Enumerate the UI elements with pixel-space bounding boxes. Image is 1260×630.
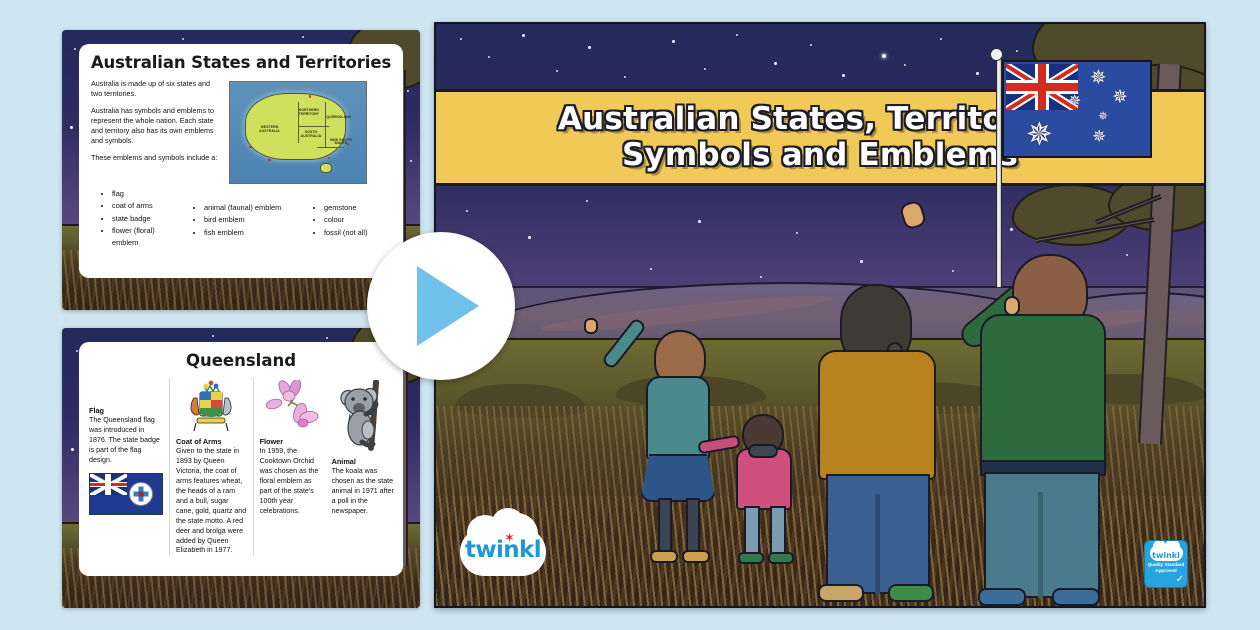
- badge-line-2: Approved: [1145, 568, 1187, 574]
- slide-1-title: Australian States and Territories: [79, 53, 403, 72]
- man-ear: [1004, 296, 1020, 316]
- slide-1-card: Australian States and Territories Austra…: [79, 44, 403, 278]
- union-jack-canton: [90, 474, 127, 495]
- girl-shoe: [682, 550, 710, 563]
- slide-1-body: Australia is made up of six states and t…: [79, 79, 403, 184]
- column-heading: Animal: [332, 457, 395, 467]
- maltese-cross-icon: [134, 486, 149, 501]
- coat-of-arms-icon: [182, 380, 240, 434]
- slide-1-paragraph-2: Australia has symbols and emblems to rep…: [91, 106, 221, 146]
- map-label-qld: QUEENSLAND: [324, 116, 354, 120]
- slide-1-bullets-col-1: flag coat of arms state badge flower (fl…: [101, 188, 177, 249]
- slide-2-title: Queensland: [79, 351, 403, 370]
- map-label-nsw: NEW SOUTH WALES: [328, 139, 354, 147]
- toddler-collar: [748, 444, 778, 458]
- slide-2-column-flower: Flower In 1959, the Cooktown Orchid was …: [253, 378, 322, 556]
- column-text: Given to the state in 1893 by Queen Vict…: [176, 447, 247, 556]
- star-icon: ✶: [504, 531, 515, 544]
- list-item: fossil (not all): [324, 227, 393, 238]
- adult-woman-figure: [804, 284, 954, 608]
- column-heading: Flag: [89, 406, 163, 416]
- map-tasmania: [320, 163, 332, 173]
- powerpoint-preview[interactable]: ✵ ✵ ✵ ✵ ✵ ✵: [434, 22, 1206, 608]
- queensland-flag-icon: [89, 473, 163, 515]
- slide-2-column-animal: Animal The koala was chosen as the state…: [328, 378, 395, 556]
- koala-icon: [332, 380, 394, 456]
- slide-2-column-coat-of-arms: Coat of Arms Given to the state in 1893 …: [169, 378, 247, 556]
- toddler-leg: [744, 506, 760, 558]
- man-shoe: [1052, 588, 1100, 606]
- girl-leg: [658, 498, 672, 554]
- slide-1-text-block: Australia is made up of six states and t…: [91, 79, 221, 184]
- adult-man-figure: [956, 254, 1126, 608]
- southern-cross-star: ✵: [1092, 128, 1106, 145]
- southern-cross-star: ✵: [1068, 94, 1081, 110]
- title-line-2: Symbols and Emblems: [622, 137, 1018, 173]
- column-heading: Flower: [260, 437, 322, 447]
- list-item: flower (floral) emblem: [112, 225, 177, 248]
- slide-1-bullets-col-3: gemstone colour fossil (not all): [313, 188, 393, 249]
- page-root: Australian States and Territories Austra…: [0, 0, 1260, 630]
- slide-2-column-flag: Flag The Queensland flag was introduced …: [89, 378, 163, 556]
- map-city-dot: [328, 157, 331, 160]
- twinkl-logo: ✶ twinkl: [460, 528, 546, 576]
- slide-1-bullet-groups: flag coat of arms state badge flower (fl…: [79, 184, 403, 249]
- slide-2-body: Flag The Queensland flag was introduced …: [79, 376, 403, 556]
- queensland-state-badge: [129, 482, 153, 506]
- quality-standard-badge: twinkl Quality Standard Approved ✓: [1144, 540, 1188, 588]
- list-item: bird emblem: [204, 214, 297, 225]
- list-item: animal (faunal) emblem: [204, 202, 297, 213]
- list-item: colour: [324, 214, 393, 225]
- toddler-leg: [770, 506, 786, 558]
- column-text: The Queensland flag was introduced in 18…: [89, 416, 163, 466]
- slide-thumbnail-2[interactable]: Queensland Flag The Queensland flag was …: [62, 328, 420, 608]
- girl-leg: [686, 498, 700, 554]
- slide-2-card: Queensland Flag The Queensland flag was …: [79, 342, 403, 576]
- list-item: gemstone: [324, 202, 393, 213]
- column-heading: Coat of Arms: [176, 437, 247, 447]
- australian-flag: ✵ ✵ ✵ ✵ ✵ ✵: [1002, 60, 1152, 158]
- woman-shoe: [888, 584, 934, 602]
- flagpole-finial: [990, 48, 1003, 61]
- australia-map-image: WESTERN AUSTRALIA NORTHERN TERRITORY QUE…: [229, 81, 367, 184]
- twinkl-wordmark: twinkl: [460, 537, 546, 563]
- toddler-shoe: [738, 552, 764, 564]
- man-shoe: [978, 588, 1026, 606]
- man-trousers-split: [1038, 492, 1043, 598]
- southern-cross-star: ✵: [1098, 110, 1108, 122]
- girl-shoe: [650, 550, 678, 563]
- list-item: state badge: [112, 213, 177, 224]
- map-city-dot: [249, 146, 252, 149]
- map-city-dot: [268, 159, 271, 162]
- slide-thumbnail-1[interactable]: Australian States and Territories Austra…: [62, 30, 420, 310]
- map-label-nt: NORTHERN TERRITORY: [294, 109, 324, 117]
- southern-cross-star: ✵: [1112, 88, 1128, 107]
- column-text: The koala was chosen as the state animal…: [332, 467, 395, 517]
- slide-1-paragraph-3: These emblems and symbols include a:: [91, 153, 221, 163]
- badge-line-1: Quality Standard: [1145, 562, 1187, 568]
- woman-jacket: [818, 350, 936, 480]
- play-button[interactable]: [367, 232, 515, 380]
- southern-cross-star: ✵: [1090, 68, 1107, 88]
- list-item: fish emblem: [204, 227, 297, 238]
- child-toddler-figure: [724, 414, 814, 594]
- girl-skirt: [640, 454, 716, 502]
- map-label-sa: SOUTH AUSTRALIA: [297, 131, 326, 139]
- map-border-qld: [325, 102, 326, 146]
- map-label-wa: WESTERN AUSTRALIA: [253, 126, 286, 134]
- girl-hand: [584, 318, 598, 334]
- list-item: flag: [112, 188, 177, 199]
- woman-jeans-split: [875, 494, 880, 594]
- cooktown-orchid-icon: [260, 380, 322, 434]
- play-triangle-icon: [417, 266, 479, 346]
- slide-1-bullets-col-2: animal (faunal) emblem bird emblem fish …: [193, 188, 297, 249]
- badge-cloud-icon: twinkl: [1150, 545, 1183, 561]
- slide-1-paragraph-1: Australia is made up of six states and t…: [91, 79, 221, 99]
- list-item: coat of arms: [112, 200, 177, 211]
- badge-brand: twinkl: [1150, 551, 1183, 560]
- column-text: In 1959, the Cooktown Orchid was chosen …: [260, 447, 322, 516]
- toddler-shoe: [768, 552, 794, 564]
- cloud-shape-icon: ✶ twinkl: [460, 528, 546, 576]
- commonwealth-star: ✵: [1026, 118, 1053, 150]
- check-icon: ✓: [1176, 575, 1184, 585]
- map-border-nsw: [317, 147, 344, 148]
- man-jumper: [980, 314, 1106, 472]
- woman-shoe: [818, 584, 864, 602]
